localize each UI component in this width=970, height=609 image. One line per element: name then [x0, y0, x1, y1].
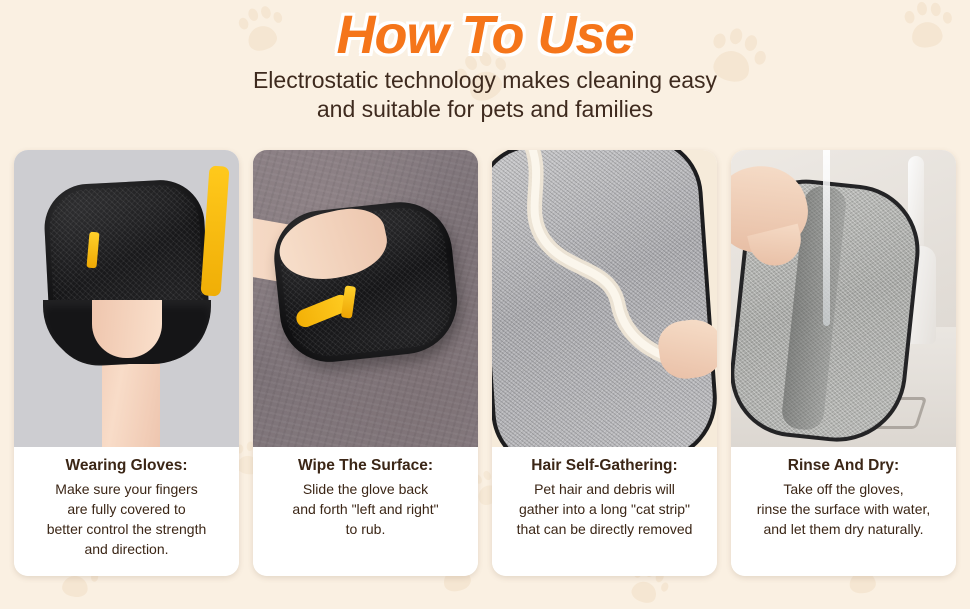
step-caption: Wipe The Surface: Slide the glove back a…	[253, 447, 478, 576]
water-stream-shape	[823, 150, 830, 326]
step-image-hair-self-gathering	[492, 150, 717, 447]
page-title: How To Use	[0, 8, 970, 62]
step-body-line: Make sure your fingers	[20, 480, 233, 500]
step-card-rinse-and-dry: Rinse And Dry: Take off the gloves, rins…	[731, 150, 956, 576]
step-body-line: Pet hair and debris will	[498, 480, 711, 500]
step-body-line: and let them dry naturally.	[737, 520, 950, 540]
step-caption: Rinse And Dry: Take off the gloves, rins…	[731, 447, 956, 576]
step-title: Rinse And Dry:	[737, 457, 950, 475]
step-body-line: and direction.	[20, 540, 233, 560]
step-body: Pet hair and debris will gather into a l…	[498, 480, 711, 540]
step-image-wipe-the-surface	[253, 150, 478, 447]
step-title: Wearing Gloves:	[20, 457, 233, 475]
step-body-line: Slide the glove back	[259, 480, 472, 500]
header: How To Use Electrostatic technology make…	[0, 0, 970, 124]
page-subtitle: Electrostatic technology makes cleaning …	[0, 66, 970, 124]
step-body-line: gather into a long "cat strip"	[498, 500, 711, 520]
step-title: Hair Self-Gathering:	[498, 457, 711, 475]
step-card-wipe-the-surface: Wipe The Surface: Slide the glove back a…	[253, 150, 478, 576]
step-body-line: Take off the gloves,	[737, 480, 950, 500]
step-image-wearing-gloves	[14, 150, 239, 447]
step-image-rinse-and-dry	[731, 150, 956, 447]
step-body-line: are fully covered to	[20, 500, 233, 520]
step-body-line: to rub.	[259, 520, 472, 540]
subtitle-line-2: and suitable for pets and families	[0, 95, 970, 124]
step-title: Wipe The Surface:	[259, 457, 472, 475]
gathered-hair-strip-shape	[514, 150, 664, 404]
step-caption: Hair Self-Gathering: Pet hair and debris…	[492, 447, 717, 576]
step-body-line: and forth "left and right"	[259, 500, 472, 520]
step-body: Make sure your fingers are fully covered…	[20, 480, 233, 560]
step-body-line: rinse the surface with water,	[737, 500, 950, 520]
step-body-line: better control the strength	[20, 520, 233, 540]
step-body: Take off the gloves, rinse the surface w…	[737, 480, 950, 540]
steps-row: Wearing Gloves: Make sure your fingers a…	[14, 150, 956, 576]
yellow-stripe-shape	[200, 165, 229, 296]
step-body-line: that can be directly removed	[498, 520, 711, 540]
step-card-hair-self-gathering: Hair Self-Gathering: Pet hair and debris…	[492, 150, 717, 576]
subtitle-line-1: Electrostatic technology makes cleaning …	[0, 66, 970, 95]
step-card-wearing-gloves: Wearing Gloves: Make sure your fingers a…	[14, 150, 239, 576]
step-caption: Wearing Gloves: Make sure your fingers a…	[14, 447, 239, 576]
step-body: Slide the glove back and forth "left and…	[259, 480, 472, 540]
